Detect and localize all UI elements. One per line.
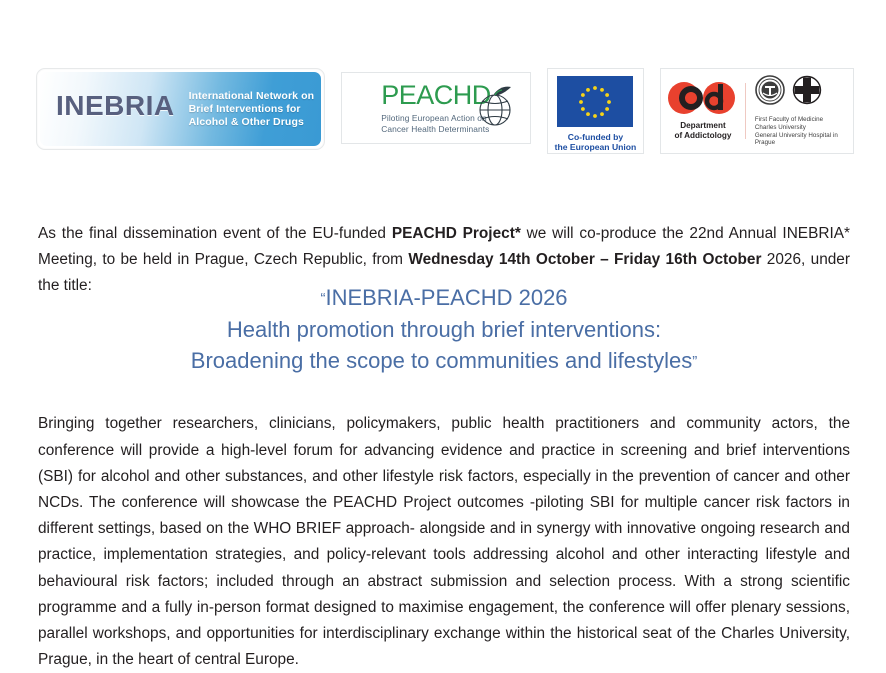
addictology-caption-line-2: of Addictology [674,131,731,141]
peachd-logo: PEACHD Piloting European Action on Cance… [341,72,531,144]
partner-logo-strip: INEBRIA International Network on Brief I… [36,68,854,160]
conference-subtitle-text: Broadening the scope to communities and … [191,348,692,373]
addictology-mark-icon [667,81,739,115]
charles-university-seal-icon [755,75,785,110]
eu-caption-line-2: the European Union [555,142,637,152]
inebria-wordmark: INEBRIA [40,92,175,120]
inebria-tagline-line-2: Brief Interventions for [189,103,315,116]
addictology-caption-line-1: Department [674,121,731,131]
charles-university-logo: Department of Addictology [660,68,854,154]
body-paragraph: Bringing together researchers, clinician… [38,411,850,673]
eu-flag-icon [557,76,633,127]
logo-divider [745,83,746,139]
intro-bold-dates: Wednesday 14th October – Friday 16th Oct… [408,251,761,268]
close-quote: ” [692,353,697,370]
institution-line-3: General University Hospital in Prague [755,132,847,148]
institution-line-2: Charles University [755,124,847,132]
inebria-tagline-line-3: Alcohol & Other Drugs [189,116,315,129]
inebria-tagline: International Network on Brief Intervent… [189,90,315,129]
charles-university-institution-lines: First Faculty of Medicine Charles Univer… [755,116,847,147]
conference-title-line-1: “INEBRIA-PEACHD 2026 [38,282,850,314]
inebria-logo: INEBRIA International Network on Brief I… [36,68,325,150]
intro-bold-project: PEACHD Project* [392,225,521,242]
institution-line-1: First Faculty of Medicine [755,116,847,124]
intro-text-part-1: As the final dissemination event of the … [38,225,392,242]
globe-icon [474,81,516,134]
conference-title-name: INEBRIA-PEACHD 2026 [325,285,567,310]
general-university-hospital-cross-icon [792,75,822,110]
inebria-tagline-line-1: International Network on [189,90,315,103]
conference-title-line-2: Health promotion through brief intervent… [38,314,850,345]
addictology-caption: Department of Addictology [674,121,731,140]
document-page: INEBRIA International Network on Brief I… [0,0,886,664]
conference-title-block: “INEBRIA-PEACHD 2026 Health promotion th… [38,282,850,377]
eu-caption: Co-funded by the European Union [555,132,637,152]
eu-caption-line-1: Co-funded by [555,132,637,142]
conference-title-line-3: Broadening the scope to communities and … [38,345,850,377]
european-union-logo: Co-funded by the European Union [547,68,644,154]
